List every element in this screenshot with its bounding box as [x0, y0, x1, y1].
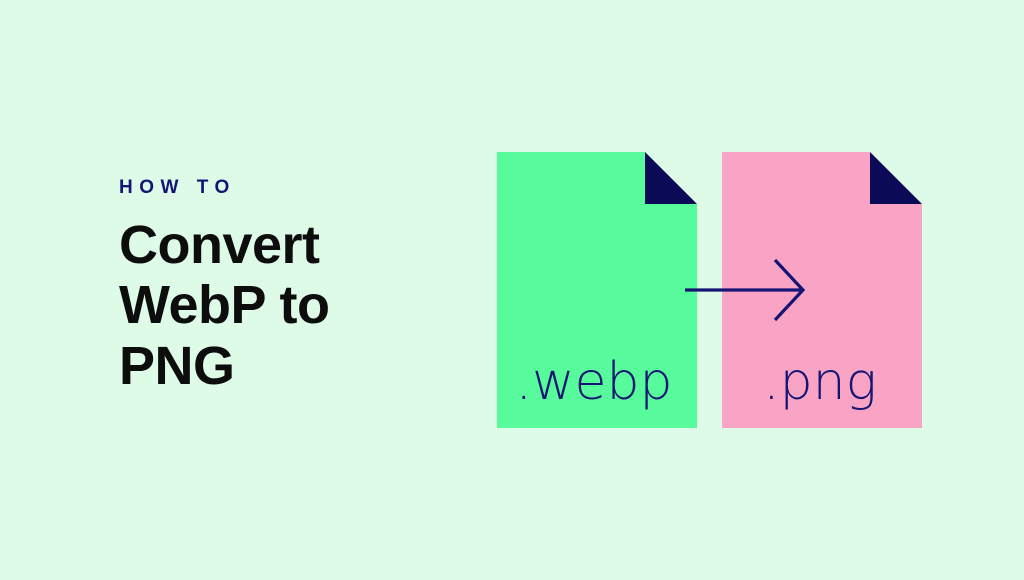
- poster-canvas: HOW TO Convert WebP to PNG .webp .png: [0, 0, 1024, 580]
- conversion-arrow: [685, 250, 815, 320]
- file-document-icon: [497, 152, 697, 428]
- source-document-webp: .webp: [497, 152, 697, 428]
- eyebrow-label: HOW TO: [119, 178, 449, 197]
- page-title: Convert WebP to PNG: [119, 215, 449, 396]
- text-block: HOW TO Convert WebP to PNG: [119, 178, 449, 396]
- conversion-illustration: .webp .png: [490, 140, 940, 445]
- arrow-right-icon: [685, 250, 815, 320]
